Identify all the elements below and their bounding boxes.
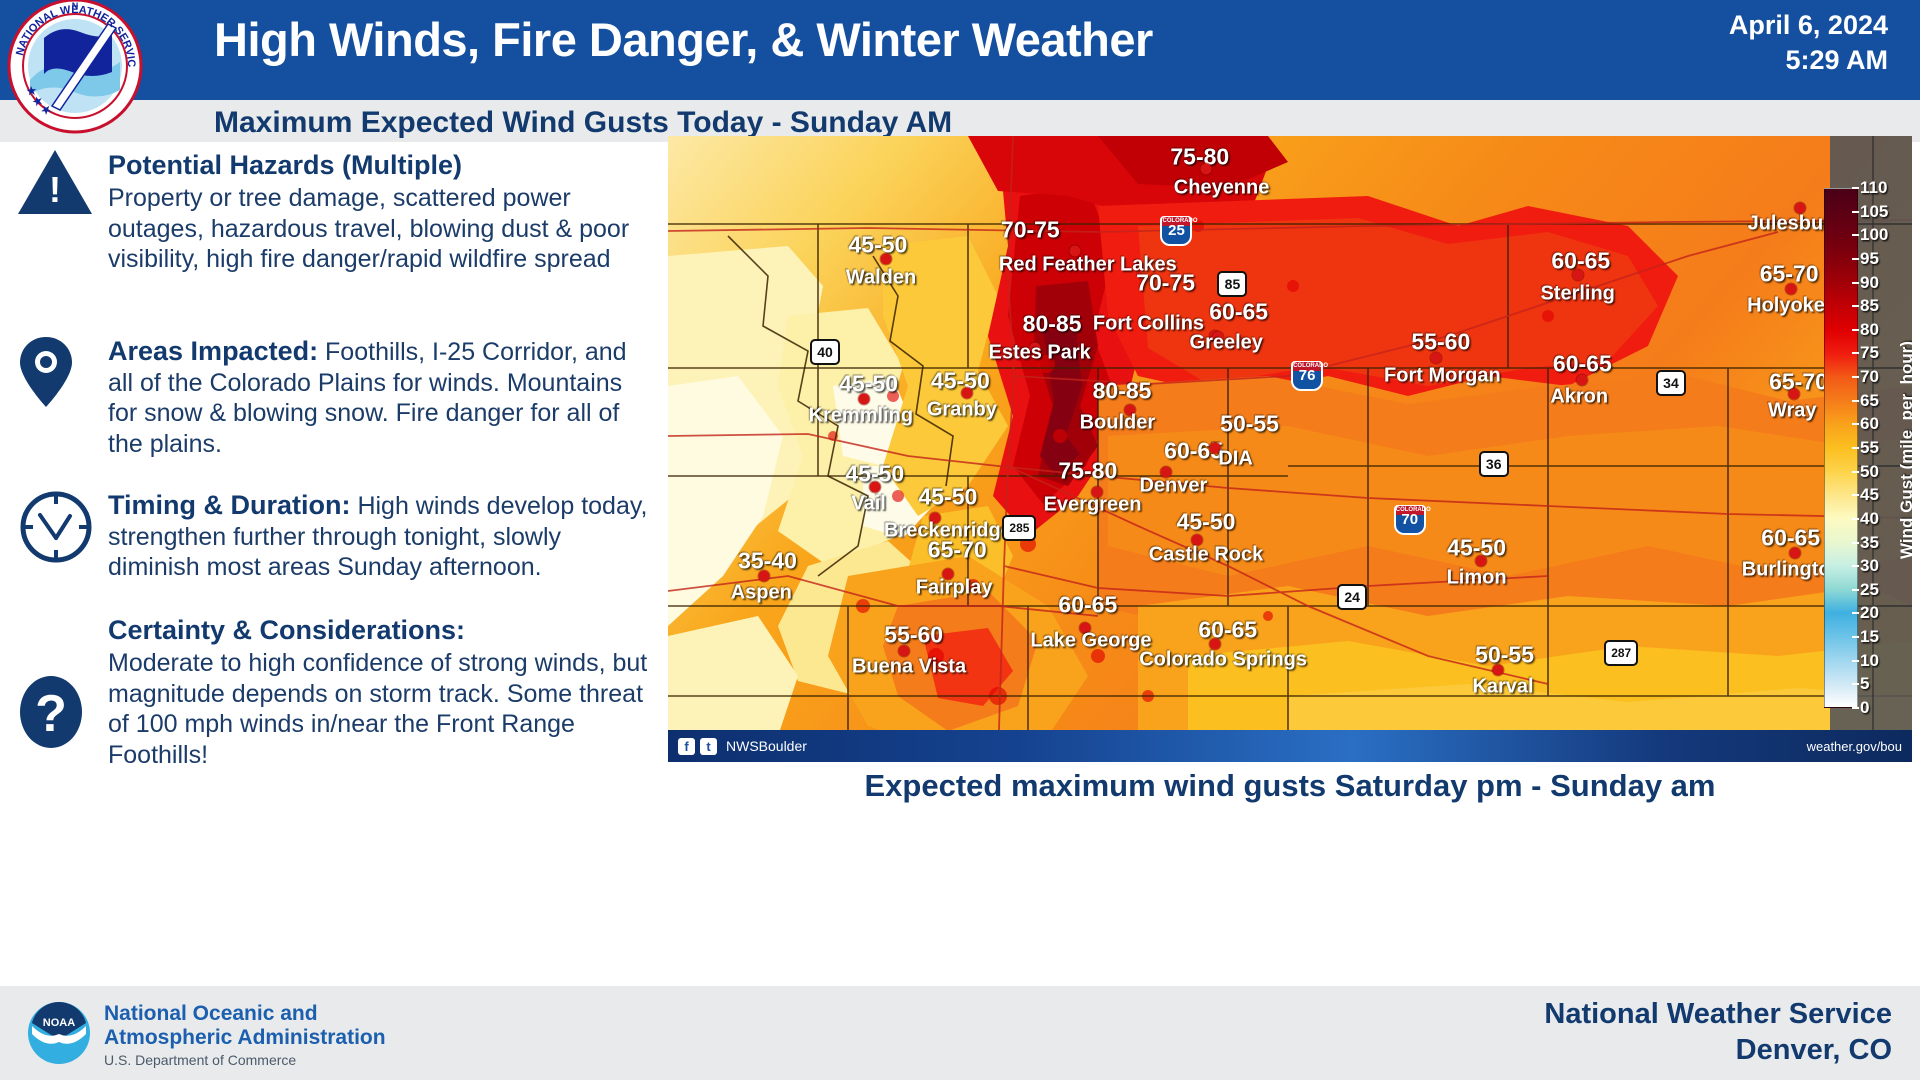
colorbar-tick-label: 55 xyxy=(1860,438,1879,458)
city-label: Cheyenne xyxy=(1174,177,1270,200)
colorbar-tick-label: 15 xyxy=(1860,627,1879,647)
us-route-shield-icon: 287 xyxy=(1604,640,1638,666)
city-marker-dot xyxy=(1572,270,1583,281)
colorbar-tick-label: 5 xyxy=(1860,674,1869,694)
noaa-line-3: U.S. Department of Commerce xyxy=(104,1052,386,1068)
colorbar-tick-label: 65 xyxy=(1860,391,1879,411)
colorbar-tick-label: 110 xyxy=(1860,178,1887,198)
interstate-shield-icon: COLORADO76 xyxy=(1291,361,1323,391)
office-name: National Weather Service xyxy=(1544,996,1892,1032)
colorbar-tick-label: 45 xyxy=(1860,485,1879,505)
city-marker-dot xyxy=(858,394,869,405)
city-marker-dot xyxy=(1431,353,1442,364)
us-route-shield-icon: 24 xyxy=(1337,584,1367,610)
question-mark-icon-wrap: ? xyxy=(18,615,108,770)
colorbar-tick-label: 75 xyxy=(1860,343,1879,363)
hazard-body: Property or tree damage, scattered power… xyxy=(108,183,648,275)
warning-triangle-icon-wrap: ! xyxy=(18,150,108,275)
city-label: Kremmling xyxy=(809,405,913,428)
interstate-shield-icon: COLORADO70 xyxy=(1394,505,1426,535)
us-route-shield-icon: 285 xyxy=(1002,515,1036,541)
twitter-icon[interactable]: t xyxy=(700,738,717,755)
city-marker-dot xyxy=(1493,665,1504,676)
colorbar-tick-label: 90 xyxy=(1860,273,1879,293)
colorbar-legend: Wind Gust (mile_per_hour) 05101520253035… xyxy=(1806,182,1904,718)
city-label: Limon xyxy=(1447,567,1507,590)
office-signature: National Weather Service Denver, CO xyxy=(1544,996,1892,1069)
header-date: April 6, 2024 xyxy=(1729,8,1888,43)
hazard-title: Areas Impacted: xyxy=(108,336,318,366)
location-pin-icon xyxy=(18,335,74,409)
header-datetime: April 6, 2024 5:29 AM xyxy=(1729,8,1888,77)
gust-value-label: 60-65 xyxy=(1553,351,1612,378)
city-label: Fairplay xyxy=(916,577,993,600)
nws-logo-icon: N NATIONAL WEATHER SERVICE ★ ★ ★ xyxy=(0,0,150,144)
gust-value-label: 50-55 xyxy=(1220,411,1279,438)
warning-triangle-icon: ! xyxy=(18,150,92,216)
gust-value-label: 75-80 xyxy=(1058,458,1117,485)
city-label: Fort Morgan xyxy=(1384,365,1501,388)
colorbar-tick-label: 60 xyxy=(1860,414,1879,434)
colorbar-tick-label: 85 xyxy=(1860,296,1879,316)
city-marker-dot xyxy=(1785,284,1796,295)
us-route-shield-icon: 40 xyxy=(810,339,840,365)
facebook-icon[interactable]: f xyxy=(678,738,695,755)
hazard-text-block: Potential Hazards (Multiple) Property or… xyxy=(108,150,648,275)
gust-value-label: 45-50 xyxy=(918,484,977,511)
city-label: Greeley xyxy=(1190,332,1263,355)
hazard-text-block: Areas Impacted: Foothills, I-25 Corridor… xyxy=(108,335,648,459)
gust-value-label: 45-50 xyxy=(1177,509,1236,536)
city-label: Castle Rock xyxy=(1149,544,1264,567)
city-label: Estes Park xyxy=(988,342,1090,365)
hazard-title: Potential Hazards (Multiple) xyxy=(108,150,648,181)
city-label: Sterling xyxy=(1540,283,1614,306)
clock-icon xyxy=(18,489,94,565)
colorbar-tick-label: 0 xyxy=(1860,698,1869,718)
us-route-shield-icon: 85 xyxy=(1217,271,1247,297)
colorbar-tick-label: 10 xyxy=(1860,651,1879,671)
noaa-line-2: Atmospheric Administration xyxy=(104,1026,386,1050)
city-marker-dot xyxy=(1788,389,1799,400)
hazard-text-block: Certainty & Considerations: Moderate to … xyxy=(108,615,648,770)
colorbar-tick-label: 105 xyxy=(1860,202,1888,222)
city-label: Aspen xyxy=(731,582,792,605)
gust-value-label: 70-75 xyxy=(1001,217,1060,244)
noaa-wordmark: National Oceanic and Atmospheric Adminis… xyxy=(104,1002,386,1068)
map-overlay: 75-8070-7545-5070-7580-8560-6555-6060-65… xyxy=(668,136,1912,762)
city-marker-dot xyxy=(1201,164,1212,175)
gust-value-label: 45-50 xyxy=(839,371,898,398)
hazard-title: Timing & Duration: xyxy=(108,490,351,520)
colorbar-tick-label: 70 xyxy=(1860,367,1879,387)
noaa-line-1: National Oceanic and xyxy=(104,1002,386,1026)
colorbar-tick-label: 95 xyxy=(1860,249,1879,269)
hazard-body: Moderate to high confidence of strong wi… xyxy=(108,648,648,770)
hazard-item-timing-duration: Timing & Duration: High winds develop to… xyxy=(18,489,648,583)
city-label: Fort Collins xyxy=(1093,313,1204,336)
city-marker-dot xyxy=(1577,375,1588,386)
hazard-item-certainty: ? Certainty & Considerations: Moderate t… xyxy=(18,615,648,770)
gust-value-label: 80-85 xyxy=(1023,311,1082,338)
hazard-item-areas-impacted: Areas Impacted: Foothills, I-25 Corridor… xyxy=(18,335,648,459)
city-label: Buena Vista xyxy=(852,656,966,679)
clock-icon-wrap xyxy=(18,489,108,583)
colorbar-tick-label: 50 xyxy=(1860,462,1879,482)
social-links[interactable]: f t NWSBoulder xyxy=(678,738,807,755)
city-label: Evergreen xyxy=(1044,494,1142,517)
city-marker-dot xyxy=(961,388,972,399)
city-label: Walden xyxy=(846,267,916,290)
map-caption: Expected maximum wind gusts Saturday pm … xyxy=(668,768,1912,804)
gust-value-label: 35-40 xyxy=(738,548,797,575)
city-label: Breckenridge xyxy=(884,520,1012,543)
hazard-text-block: Timing & Duration: High winds develop to… xyxy=(108,489,648,583)
city-label: Lake George xyxy=(1030,630,1151,653)
hazard-panel: ! Potential Hazards (Multiple) Property … xyxy=(0,142,660,932)
noaa-logo-icon: NOAA xyxy=(26,1000,92,1066)
map-social-bar: f t NWSBoulder weather.gov/bou xyxy=(668,730,1912,762)
colorbar-tick-label: 40 xyxy=(1860,509,1879,529)
us-route-shield-icon: 34 xyxy=(1656,370,1686,396)
colorbar-tick-label: 30 xyxy=(1860,556,1879,576)
page-title: High Winds, Fire Danger, & Winter Weathe… xyxy=(214,12,1153,67)
office-location: Denver, CO xyxy=(1544,1032,1892,1068)
noaa-badge-text: NOAA xyxy=(43,1017,75,1029)
wind-gust-map[interactable]: 75-8070-7545-5070-7580-8560-6555-6060-65… xyxy=(668,136,1912,762)
city-marker-dot xyxy=(759,571,770,582)
gust-value-label: 50-55 xyxy=(1475,642,1534,669)
city-label: Akron xyxy=(1550,386,1608,409)
question-mark-icon: ? xyxy=(18,673,84,751)
city-label: Vail xyxy=(851,493,885,516)
interstate-shield-icon: COLORADO25 xyxy=(1160,216,1192,246)
city-marker-dot xyxy=(1790,548,1801,559)
city-label: Karval xyxy=(1472,676,1533,699)
weather-graphic: N NATIONAL WEATHER SERVICE ★ ★ ★ High Wi… xyxy=(0,0,1920,1080)
gust-value-label: 60-65 xyxy=(1058,592,1117,619)
gust-value-label: 45-50 xyxy=(849,232,908,259)
city-marker-dot xyxy=(1476,556,1487,567)
gust-value-label: 80-85 xyxy=(1093,378,1152,405)
svg-text:?: ? xyxy=(35,685,67,743)
city-marker-dot xyxy=(880,254,891,265)
legend-title: Wind Gust (mile_per_hour) xyxy=(1897,341,1912,559)
city-marker-dot xyxy=(869,482,880,493)
city-label: Red Feather Lakes xyxy=(999,254,1177,277)
gust-value-label: 60-65 xyxy=(1209,299,1268,326)
colorbar-tick-label: 100 xyxy=(1860,225,1888,245)
city-label: Boulder xyxy=(1080,412,1156,435)
colorbar-tick-label: 20 xyxy=(1860,603,1879,623)
page-subtitle: Maximum Expected Wind Gusts Today - Sund… xyxy=(214,106,952,140)
city-label: Denver xyxy=(1139,475,1207,498)
city-label: Granby xyxy=(927,399,997,422)
us-route-shield-icon: 36 xyxy=(1479,451,1509,477)
website-url[interactable]: weather.gov/bou xyxy=(1807,739,1902,754)
gust-value-label: 55-60 xyxy=(884,622,943,649)
colorbar-tick-label: 35 xyxy=(1860,533,1879,553)
gust-value-label: 55-60 xyxy=(1411,329,1470,356)
colorbar-tick-label: 80 xyxy=(1860,320,1879,340)
colorbar-tick-label: 25 xyxy=(1860,580,1879,600)
city-label: DIA xyxy=(1218,448,1252,471)
social-handle: NWSBoulder xyxy=(726,738,807,754)
location-pin-icon-wrap xyxy=(18,335,108,459)
header-time: 5:29 AM xyxy=(1729,43,1888,78)
hazard-item-potential-hazards: ! Potential Hazards (Multiple) Property … xyxy=(18,150,648,275)
city-label: Colorado Springs xyxy=(1139,649,1307,672)
gust-value-label: 60-65 xyxy=(1198,617,1257,644)
hazard-title: Certainty & Considerations: xyxy=(108,615,648,646)
